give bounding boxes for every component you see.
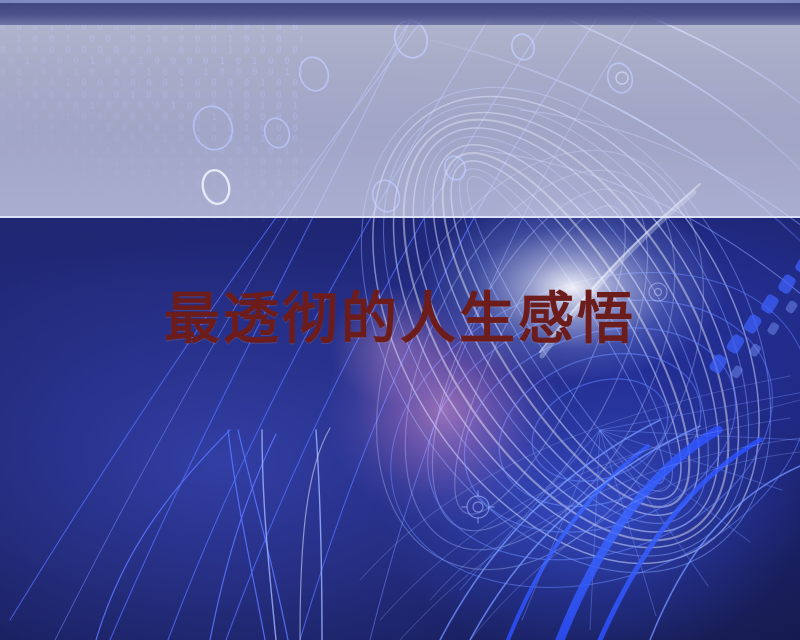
slide-canvas: 0 1 0 0 0 1 0 0 0 0 1 0 0 1 0 0 0 1 0 0 … — [0, 0, 800, 640]
title-container: 最透彻的人生感悟 — [0, 211, 800, 429]
page-title: 最透彻的人生感悟 — [164, 292, 636, 348]
